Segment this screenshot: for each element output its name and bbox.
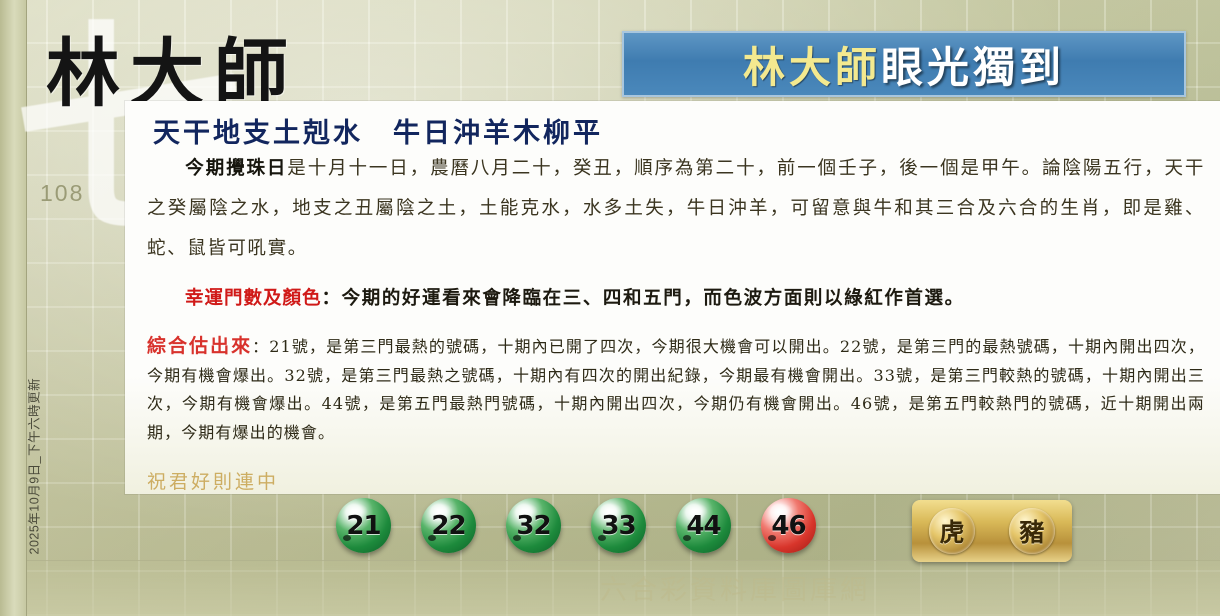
slogan-text: 眼光獨到 [881,43,1065,92]
lottery-ball-row: 21 22 32 33 44 46 [336,498,816,553]
prediction-body: 21號，是第三門最熱的號碼，十期內已開了四次，今期很大機會可以開出。22號，是第… [147,337,1205,442]
closing-signature: 祝君好則連中 [147,467,279,494]
lottery-ball[interactable]: 21 [336,498,391,553]
ball-number: 33 [601,511,635,541]
paragraph3-colon: ： [252,337,269,356]
article-paragraph-2: 幸運門數及顏色：今期的好運看來會降臨在三、四和五門，而色波方面則以綠紅作首選。 [147,279,1205,319]
zodiac-coin[interactable]: 豬 [1009,508,1055,554]
lottery-ball[interactable]: 22 [421,498,476,553]
article-headline: 天干地支土剋水 牛日沖羊木柳平 [153,111,603,150]
lottery-ball[interactable]: 32 [506,498,561,553]
prediction-label: 綜合估出來 [147,335,252,357]
lottery-ball[interactable]: 46 [761,498,816,553]
ball-number: 21 [346,511,380,541]
ball-number: 22 [431,511,465,541]
ball-number: 32 [516,511,550,541]
page-number: 108 [40,180,84,207]
paragraph1-body: 是十月十一日，農曆八月二十，癸丑，順序為第二十，前一個壬子，後一個是甲午。論陰陽… [147,158,1205,259]
zodiac-plaque-group: 虎 豬 [912,500,1072,562]
article-paragraph-1: 今期攪珠日是十月十一日，農曆八月二十，癸丑，順序為第二十，前一個壬子，後一個是甲… [147,149,1205,269]
bottom-watermark: 六合彩資料庫圖庫網 [600,568,1200,610]
article-paragraph-3: 綜合估出來：21號，是第三門最熱的號碼，十期內已開了四次，今期很大機會可以開出。… [147,332,1205,447]
zodiac-plaque[interactable]: 虎 豬 [912,500,1072,562]
paragraph1-lead: 今期攪珠日 [185,158,287,179]
ball-number: 46 [771,511,805,541]
ball-number: 44 [686,511,720,541]
update-date-label: 2025年10月9日_下午六時更新 [24,345,43,555]
slogan-brand: 林大師 [743,43,881,92]
lottery-ball[interactable]: 44 [676,498,731,553]
slogan-banner: 林大師眼光獨到 [622,31,1186,97]
lottery-ball[interactable]: 33 [591,498,646,553]
paragraph2-colon: ： [322,288,342,309]
lucky-gates-body: 今期的好運看來會降臨在三、四和五門，而色波方面則以綠紅作首選。 [342,288,965,309]
article-panel: 天干地支土剋水 牛日沖羊木柳平 今期攪珠日是十月十一日，農曆八月二十，癸丑，順序… [125,101,1220,494]
zodiac-label: 虎 [939,513,964,549]
zodiac-label: 豬 [1019,513,1044,549]
poster-canvas: 六合彩資料庫圖庫網 七 108 2025年10月9日_下午六時更新 林大師 林大… [0,0,1220,616]
zodiac-coin[interactable]: 虎 [929,508,975,554]
lucky-gates-label: 幸運門數及顏色 [185,288,322,309]
